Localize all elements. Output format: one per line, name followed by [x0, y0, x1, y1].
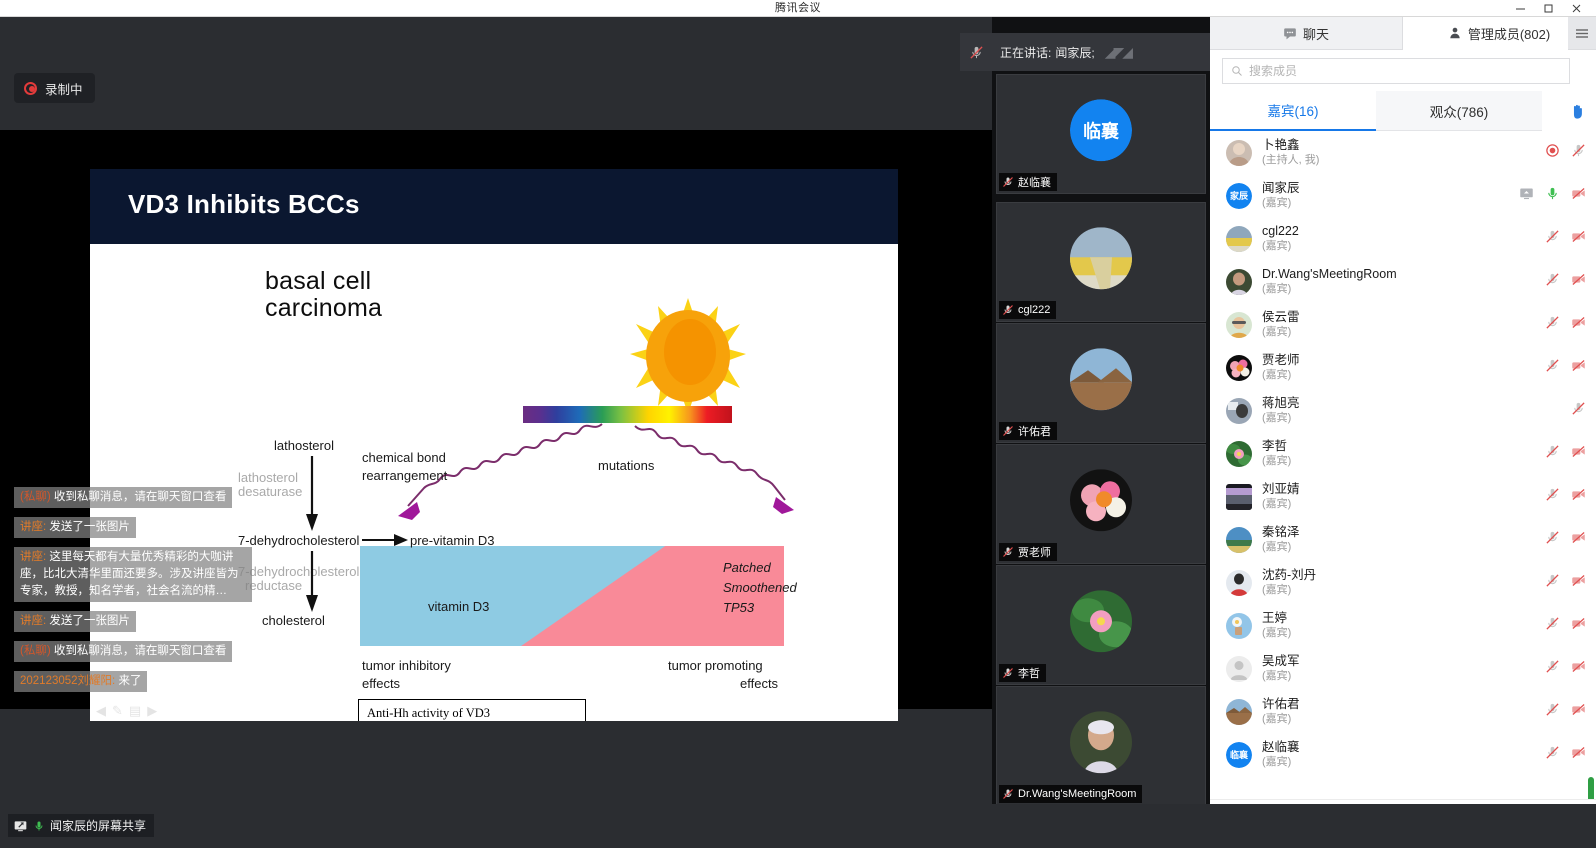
participant-name: 秦铭泽	[1262, 525, 1300, 540]
chat-text: 收到私聊消息，请在聊天窗口查看	[51, 491, 227, 503]
chat-overlay-item: (私聊) 收到私聊消息，请在聊天窗口查看	[14, 641, 264, 671]
label-tumor-inhibitory-2: effects	[362, 676, 400, 692]
camera-off-icon[interactable]	[1571, 573, 1586, 588]
avatar	[1226, 312, 1252, 338]
tile-nameplate: 许佑君	[999, 422, 1057, 440]
subtab-guests[interactable]: 嘉宾(16)	[1210, 91, 1376, 131]
mic-muted-icon[interactable]	[1545, 745, 1560, 760]
participant-controls[interactable]	[1545, 143, 1586, 158]
label-pre-vitamin-d3: pre-vitamin D3	[410, 533, 495, 549]
screen-share-label: 闻家辰的屏幕共享	[50, 817, 146, 834]
chat-text: 来了	[115, 675, 141, 687]
search-input[interactable]	[1249, 64, 1549, 78]
window-controls	[1506, 0, 1590, 16]
person-icon	[1448, 26, 1462, 40]
label-tumor-promoting-1: tumor promoting	[668, 658, 763, 674]
participant-name: 闻家辰	[1262, 181, 1300, 196]
chat-sender: 讲座:	[20, 521, 46, 533]
avatar: 家辰	[1226, 183, 1252, 209]
mic-active-icon[interactable]	[1545, 186, 1560, 201]
tile-name: 李哲	[1018, 665, 1040, 681]
participant-controls[interactable]	[1545, 702, 1586, 717]
participant-controls[interactable]	[1545, 616, 1586, 631]
tile-name: 赵临襄	[1018, 174, 1051, 190]
bcc-line-1: basal cell	[265, 268, 465, 295]
participant-controls[interactable]	[1545, 573, 1586, 588]
participant-name: 沈药-刘丹	[1262, 568, 1316, 583]
label-lathosterol: lathosterol	[274, 438, 334, 454]
avatar	[1070, 348, 1132, 410]
tab-chat[interactable]: 聊天	[1210, 17, 1403, 50]
participant-role: (嘉宾)	[1262, 411, 1300, 425]
camera-off-icon[interactable]	[1571, 745, 1586, 760]
chat-overlay-item: 202123052刘耀阳: 来了	[14, 671, 264, 701]
prev-slide-icon[interactable]: ◀	[96, 703, 106, 719]
subtab-audience[interactable]: 观众(786)	[1376, 91, 1542, 131]
raised-hand-icon[interactable]	[1569, 103, 1586, 124]
video-tile[interactable]: Dr.Wang'sMeetingRoom	[996, 686, 1206, 806]
label-chemical-bond: chemical bond	[362, 450, 446, 466]
window-titlebar: 腾讯会议	[0, 0, 1596, 17]
participant-role: (嘉宾)	[1262, 325, 1300, 339]
audio-wave-icon: ◢◤◢	[1105, 44, 1131, 61]
label-vitamin-d3: vitamin D3	[428, 599, 489, 615]
mic-muted-icon[interactable]	[1545, 272, 1560, 287]
label-smoothened: Smoothened	[723, 580, 797, 596]
pen-icon[interactable]: ✎	[112, 703, 123, 719]
camera-off-icon[interactable]	[1571, 659, 1586, 674]
recording-icon[interactable]	[1545, 143, 1560, 158]
camera-off-icon[interactable]	[1571, 444, 1586, 459]
participant-controls[interactable]	[1545, 358, 1586, 373]
mic-muted-icon	[1002, 176, 1014, 188]
camera-off-icon[interactable]	[1571, 229, 1586, 244]
ic50-callout-box: Anti-Hh activity of VD3 IC50 = 2.1 ± 0.1…	[358, 699, 586, 721]
participant-subtabs: 嘉宾(16) 观众(786)	[1210, 91, 1596, 131]
chat-text: 发送了一张图片	[46, 615, 130, 627]
avatar-initials: 临襄	[1070, 99, 1132, 161]
close-icon[interactable]	[1562, 0, 1590, 16]
camera-off-icon[interactable]	[1571, 358, 1586, 373]
participant-role: (嘉宾)	[1262, 712, 1300, 726]
avatar	[1226, 527, 1252, 553]
video-tile[interactable]: 李哲	[996, 565, 1206, 685]
avatar	[1226, 613, 1252, 639]
participant-controls[interactable]	[1571, 401, 1586, 416]
record-dot-icon	[24, 82, 37, 95]
participant-controls[interactable]	[1545, 229, 1586, 244]
participant-row[interactable]: 卜艳鑫(主持人, 我)	[1210, 131, 1596, 174]
search-icon	[1231, 65, 1243, 77]
participant-name: 贾老师	[1262, 353, 1300, 368]
screen-share-taskbar: 闻家辰的屏幕共享	[0, 804, 1596, 848]
participant-row[interactable]: 李哲(嘉宾)	[1210, 432, 1596, 475]
avatar	[1226, 226, 1252, 252]
avatar	[1226, 656, 1252, 682]
slide-title: VD3 Inhibits BCCs	[128, 189, 360, 220]
shared-screen-stage[interactable]: 录制中 VD3 Inhibits BCCs	[0, 17, 992, 804]
label-cholesterol: cholesterol	[262, 613, 325, 629]
subtab-guests-label: 嘉宾(16)	[1267, 100, 1318, 120]
participant-row[interactable]: 临襄 赵临襄(嘉宾)	[1210, 733, 1596, 776]
chat-text: 收到私聊消息，请在聊天窗口查看	[51, 645, 227, 657]
participant-name: cgl222	[1262, 224, 1299, 239]
participant-controls[interactable]	[1545, 272, 1586, 287]
mic-muted-icon[interactable]	[1545, 358, 1560, 373]
avatar	[1226, 441, 1252, 467]
avatar: 临襄	[1070, 99, 1132, 161]
sun-icon	[628, 296, 748, 416]
avatar	[1226, 699, 1252, 725]
tile-nameplate: Dr.Wang'sMeetingRoom	[999, 785, 1142, 803]
slideshow-nav-controls[interactable]: ◀ ✎ ▤ ▶	[96, 703, 157, 719]
avatar	[1226, 269, 1252, 295]
avatar	[1070, 469, 1132, 531]
mic-muted-icon	[1002, 546, 1014, 558]
participant-role: (嘉宾)	[1262, 282, 1397, 296]
mic-muted-icon[interactable]	[1545, 659, 1560, 674]
participant-controls[interactable]	[1545, 530, 1586, 545]
camera-off-icon[interactable]	[1571, 315, 1586, 330]
label-patched: Patched	[723, 560, 771, 576]
light-spectrum-bar	[523, 406, 732, 423]
participant-role: (嘉宾)	[1262, 196, 1300, 210]
mic-muted-icon[interactable]	[1545, 573, 1560, 588]
bcc-line-2: carcinoma	[265, 295, 465, 322]
mic-muted-icon	[969, 45, 984, 60]
subtab-audience-label: 观众(786)	[1430, 101, 1489, 121]
mic-muted-icon[interactable]	[1545, 444, 1560, 459]
participant-row[interactable]: 侯云雷(嘉宾)	[1210, 303, 1596, 346]
participant-role: (主持人, 我)	[1262, 153, 1319, 167]
participant-role: (嘉宾)	[1262, 368, 1300, 382]
participant-name: 侯云雷	[1262, 310, 1300, 325]
participant-name: 赵临襄	[1262, 740, 1300, 755]
tile-name: Dr.Wang'sMeetingRoom	[1018, 788, 1136, 800]
participant-controls[interactable]	[1545, 444, 1586, 459]
mic-muted-icon[interactable]	[1571, 143, 1586, 158]
camera-off-icon[interactable]	[1571, 616, 1586, 631]
next-slide-icon[interactable]: ▶	[147, 703, 157, 719]
chat-sender: 讲座:	[20, 551, 46, 563]
participant-name: 蒋旭亮	[1262, 396, 1300, 411]
video-filmstrip: 正在讲话: 闻家辰; ◢◤◢ 临襄 赵临襄 cgl222	[992, 17, 1210, 804]
participant-controls[interactable]	[1545, 745, 1586, 760]
mic-muted-icon	[1002, 304, 1014, 316]
video-tile[interactable]: 许佑君	[996, 323, 1206, 443]
tumor-promoting-region	[360, 546, 784, 646]
chat-text: 这里每天都有大量优秀精彩的大咖讲座，比北大清华里面还要多。涉及讲座皆为专家，教授…	[20, 551, 239, 597]
window-title: 腾讯会议	[0, 0, 1596, 16]
participant-role: (嘉宾)	[1262, 540, 1300, 554]
participant-list[interactable]: 卜艳鑫(主持人, 我) 家辰 闻家辰(嘉宾) cgl222(嘉宾	[1210, 131, 1596, 799]
chat-text: 发送了一张图片	[46, 521, 130, 533]
participant-name: 王婷	[1262, 611, 1291, 626]
avatar	[1226, 484, 1252, 510]
participant-row[interactable]: 秦铭泽(嘉宾)	[1210, 518, 1596, 561]
participant-name: 李哲	[1262, 439, 1291, 454]
mic-muted-icon	[1002, 425, 1014, 437]
mic-active-icon	[33, 819, 45, 833]
bcc-region-box	[360, 546, 784, 646]
avatar	[1070, 227, 1132, 289]
chat-sender: (私聊)	[20, 491, 51, 503]
tile-name: 许佑君	[1018, 423, 1051, 439]
participant-name: 刘亚婧	[1262, 482, 1300, 497]
tile-nameplate: 贾老师	[999, 543, 1057, 561]
video-tile[interactable]: 临襄 赵临襄	[996, 74, 1206, 194]
hamburger-icon[interactable]	[1568, 17, 1596, 50]
participant-row[interactable]: 家辰 闻家辰(嘉宾)	[1210, 174, 1596, 217]
tile-name: cgl222	[1018, 304, 1050, 316]
participant-controls[interactable]	[1545, 315, 1586, 330]
camera-off-icon[interactable]	[1571, 186, 1586, 201]
mic-muted-icon[interactable]	[1545, 530, 1560, 545]
avatar	[1226, 355, 1252, 381]
chat-overlay: (私聊) 收到私聊消息，请在聊天窗口查看 讲座: 发送了一张图片 讲座: 这里每…	[14, 487, 264, 701]
label-tp53: TP53	[723, 600, 754, 616]
mic-muted-icon	[1002, 788, 1014, 800]
mic-muted-icon[interactable]	[1545, 702, 1560, 717]
participant-role: (嘉宾)	[1262, 626, 1291, 640]
participant-role: (嘉宾)	[1262, 454, 1291, 468]
participant-row[interactable]: 许佑君(嘉宾)	[1210, 690, 1596, 733]
avatar-initials: 家辰	[1226, 183, 1252, 209]
recording-label: 录制中	[45, 79, 83, 98]
avatar	[1070, 590, 1132, 652]
self-mute-indicator	[960, 33, 992, 71]
mic-muted-icon[interactable]	[1545, 487, 1560, 502]
label-tumor-inhibitory-1: tumor inhibitory	[362, 658, 451, 674]
chat-icon	[1283, 26, 1297, 40]
label-tumor-promoting-2: effects	[740, 676, 778, 692]
mic-muted-icon[interactable]	[1571, 401, 1586, 416]
participant-role: (嘉宾)	[1262, 669, 1300, 683]
participant-role: (嘉宾)	[1262, 239, 1299, 253]
participant-role: (嘉宾)	[1262, 497, 1300, 511]
label-mutations: mutations	[598, 458, 654, 474]
screen-share-chip[interactable]: 闻家辰的屏幕共享	[8, 814, 154, 837]
avatar	[1226, 398, 1252, 424]
participant-row[interactable]: Dr.Wang'sMeetingRoom(嘉宾)	[1210, 260, 1596, 303]
participant-row[interactable]: 吴成军(嘉宾)	[1210, 647, 1596, 690]
chat-overlay-item: (私聊) 收到私聊消息，请在聊天窗口查看	[14, 487, 264, 517]
avatar	[1226, 140, 1252, 166]
video-tile[interactable]: cgl222	[996, 202, 1206, 322]
participant-row[interactable]: 沈药-刘丹(嘉宾)	[1210, 561, 1596, 604]
participant-row[interactable]: 蒋旭亮(嘉宾)	[1210, 389, 1596, 432]
camera-off-icon[interactable]	[1571, 272, 1586, 287]
panel-tabs: 聊天 管理成员(802)	[1210, 17, 1596, 50]
participant-name: 许佑君	[1262, 697, 1300, 712]
participant-name: 吴成军	[1262, 654, 1300, 669]
participant-controls[interactable]	[1519, 186, 1586, 201]
participant-row[interactable]: 贾老师(嘉宾)	[1210, 346, 1596, 389]
tab-chat-label: 聊天	[1303, 24, 1329, 43]
chat-sender: 202123052刘耀阳:	[20, 675, 115, 687]
camera-off-icon[interactable]	[1571, 487, 1586, 502]
basal-cell-carcinoma-label: basal cell carcinoma	[265, 268, 465, 322]
participant-row[interactable]: 王婷(嘉宾)	[1210, 604, 1596, 647]
participant-name: 卜艳鑫	[1262, 138, 1319, 153]
avatar: 临襄	[1226, 742, 1252, 768]
tile-nameplate: 李哲	[999, 664, 1046, 682]
search-row	[1210, 50, 1596, 91]
chat-overlay-item: 讲座: 发送了一张图片	[14, 517, 264, 547]
minimize-icon[interactable]	[1506, 0, 1534, 16]
participant-row[interactable]: 刘亚婧(嘉宾)	[1210, 475, 1596, 518]
mic-muted-icon[interactable]	[1545, 315, 1560, 330]
tile-name: 贾老师	[1018, 544, 1051, 560]
chat-overlay-item: 讲座: 这里每天都有大量优秀精彩的大咖讲座，比北大清华里面还要多。涉及讲座皆为专…	[14, 547, 264, 611]
label-rearrangement: rearrangement	[362, 468, 447, 484]
tile-nameplate: 赵临襄	[999, 173, 1057, 191]
tile-nameplate: cgl222	[999, 301, 1056, 319]
participants-panel: 聊天 管理成员(802) 嘉宾(16) 观众(786)	[1210, 17, 1596, 848]
avatar	[1226, 570, 1252, 596]
participant-role: (嘉宾)	[1262, 755, 1300, 769]
avatar	[1070, 711, 1132, 773]
mic-muted-icon[interactable]	[1545, 616, 1560, 631]
camera-off-icon[interactable]	[1571, 702, 1586, 717]
participant-controls[interactable]	[1545, 659, 1586, 674]
speaking-name: 闻家辰;	[1055, 44, 1094, 61]
chat-sender: (私聊)	[20, 645, 51, 657]
search-box[interactable]	[1222, 58, 1570, 84]
participant-name: Dr.Wang'sMeetingRoom	[1262, 267, 1397, 282]
screen-share-icon	[13, 819, 28, 833]
tab-manage-members-label: 管理成员(802)	[1468, 24, 1550, 43]
recording-indicator: 录制中	[14, 73, 95, 103]
video-tile[interactable]: 贾老师	[996, 444, 1206, 564]
chat-sender: 讲座:	[20, 615, 46, 627]
ic50-line-1: Anti-Hh activity of VD3	[367, 705, 585, 721]
camera-off-icon[interactable]	[1571, 530, 1586, 545]
participant-controls[interactable]	[1545, 487, 1586, 502]
screen-share-icon[interactable]	[1519, 186, 1534, 201]
chat-overlay-item: 讲座: 发送了一张图片	[14, 611, 264, 641]
participant-row[interactable]: cgl222(嘉宾)	[1210, 217, 1596, 260]
mic-muted-icon[interactable]	[1545, 229, 1560, 244]
participant-role: (嘉宾)	[1262, 583, 1316, 597]
slide-menu-icon[interactable]: ▤	[129, 703, 141, 719]
active-speaker-banner: 正在讲话: 闻家辰; ◢◤◢	[992, 33, 1210, 71]
maximize-icon[interactable]	[1534, 0, 1562, 16]
mic-muted-icon	[1002, 667, 1014, 679]
speaking-prefix: 正在讲话:	[1000, 44, 1051, 61]
avatar-initials: 临襄	[1226, 742, 1252, 768]
